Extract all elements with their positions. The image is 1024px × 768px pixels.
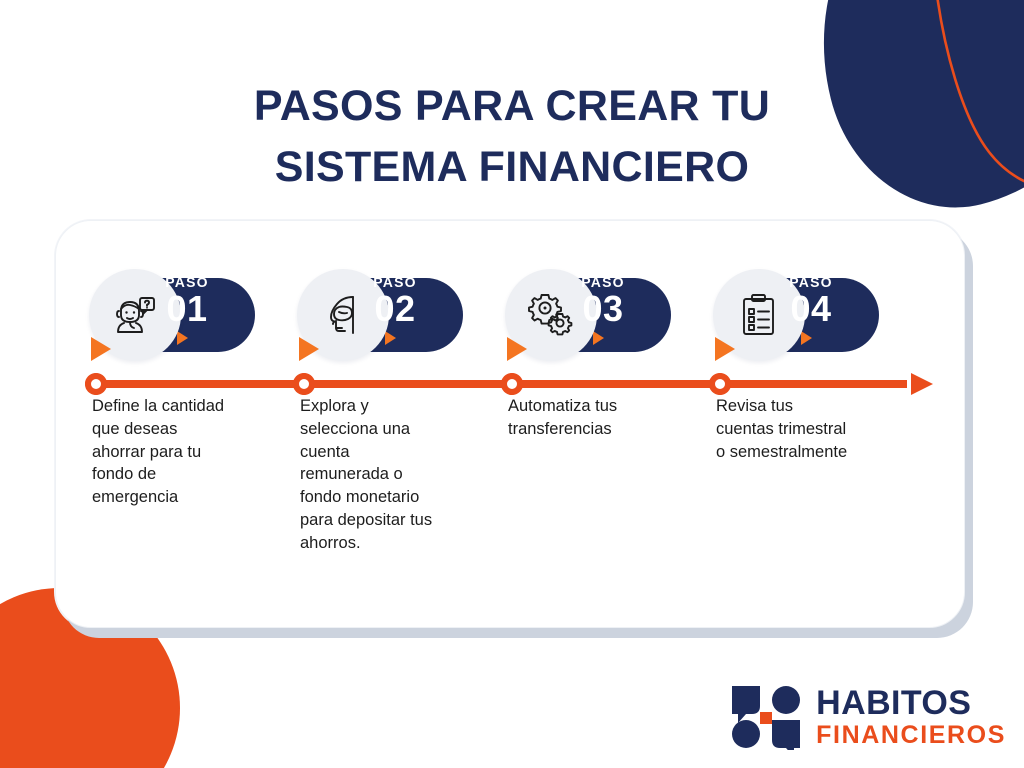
step-marker-triangle-1 <box>91 337 111 361</box>
page-title: PASOS PARA CREAR TU SISTEMA FINANCIERO <box>0 76 1024 198</box>
step-pill-text-3: PASO 03 <box>558 275 648 328</box>
logo-name-bottom: FINANCIEROS <box>816 723 1006 748</box>
step-number-1: 01 <box>142 290 232 328</box>
step-pill-text-1: PASO 01 <box>142 275 232 328</box>
steps-container: PASO 01 Define la cantidad que deseas ah… <box>56 221 966 629</box>
step-number-3: 03 <box>558 290 648 328</box>
step-description-2: Explora y selecciona una cuenta remunera… <box>300 395 483 554</box>
step-pill-text-2: PASO 02 <box>350 275 440 328</box>
logo-wordmark: HABITOS FINANCIEROS <box>816 686 1006 748</box>
step-description-4: Revisa tus cuentas trimestral o semestra… <box>716 395 899 463</box>
step-accent-triangle-3 <box>593 331 604 345</box>
step-accent-triangle-1 <box>177 331 188 345</box>
steps-card: PASO 01 Define la cantidad que deseas ah… <box>55 220 965 628</box>
step-number-4: 04 <box>766 290 856 328</box>
step-number-2: 02 <box>350 290 440 328</box>
timeline-line <box>91 380 907 388</box>
brand-logo: HABITOS FINANCIEROS <box>730 684 1006 750</box>
timeline-arrow-icon <box>911 373 933 395</box>
timeline-dot-icon-1 <box>85 373 107 395</box>
step-description-1: Define la cantidad que deseas ahorrar pa… <box>92 395 275 509</box>
step-accent-triangle-4 <box>801 331 812 345</box>
step-accent-triangle-2 <box>385 331 396 345</box>
title-line-1: PASOS PARA CREAR TU <box>0 76 1024 137</box>
habitos-financieros-logo-mark <box>730 684 802 750</box>
step-marker-triangle-2 <box>299 337 319 361</box>
step-marker-triangle-3 <box>507 337 527 361</box>
step-marker-triangle-4 <box>715 337 735 361</box>
step-pill-text-4: PASO 04 <box>766 275 856 328</box>
timeline-dot-icon-3 <box>501 373 523 395</box>
timeline-dot-icon-2 <box>293 373 315 395</box>
timeline <box>85 373 933 395</box>
infographic-canvas: PASOS PARA CREAR TU SISTEMA FINANCIERO <box>0 0 1024 768</box>
step-description-3: Automatiza tus transferencias <box>508 395 691 441</box>
title-line-2: SISTEMA FINANCIERO <box>0 137 1024 198</box>
timeline-dot-icon-4 <box>709 373 731 395</box>
logo-name-top: HABITOS <box>816 686 1006 720</box>
